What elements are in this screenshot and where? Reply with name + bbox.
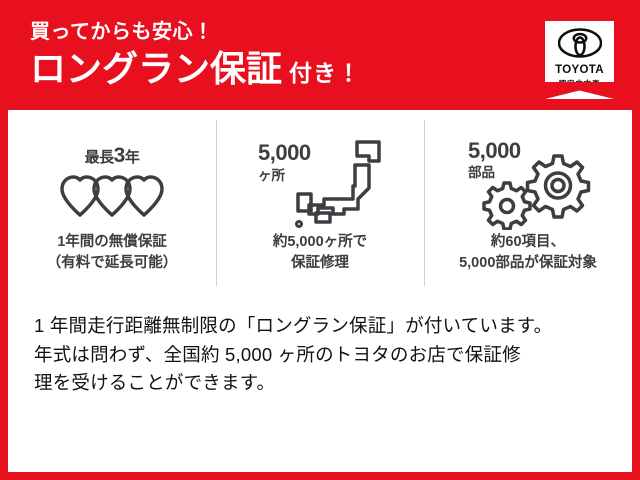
description-paragraph: 1 年間走行距離無制限の「ロングラン保証」が付いています。 年式は問わず、全国約… (8, 306, 632, 398)
caption-line-1: 約60項目、 (459, 232, 597, 253)
toyota-ellipse-logo-icon (558, 28, 602, 63)
headline-number-text: 3 (114, 144, 125, 167)
feature-warranty-term: 最長3年 (8, 136, 216, 306)
toyota-certified-badge: TOYOTA 認定中古車 (545, 21, 614, 99)
poster-body-card: 最長3年 (8, 110, 632, 472)
feature-headline-term: 最長3年 (85, 145, 140, 166)
feature-service-locations: 5,000 ヶ所 (216, 136, 424, 306)
feature-caption-service-locations: 約5,000ヶ所で 保証修理 (273, 232, 367, 273)
caption-line-2: 5,000部品が保証対象 (459, 253, 597, 274)
paragraph-line-3: 理を受けることができます。 (34, 369, 606, 398)
headline-unit-text: 年 (125, 149, 140, 166)
headline-prefix-text: 最長 (85, 149, 114, 166)
paragraph-line-1: 1 年間走行距離無制限の「ロングラン保証」が付いています。 (34, 312, 606, 341)
two-gears-icon (478, 152, 594, 235)
header-title-row: ロングラン保証付き！ (30, 51, 632, 87)
japan-map-icon (294, 138, 384, 235)
feature-graphic-gears: 5,000 部品 (424, 136, 632, 232)
header-tagline: 買ってからも安心！ (30, 22, 632, 42)
caption-line-1: 1年間の無償保証 (47, 232, 178, 253)
feature-graphic-hearts: 最長3年 (8, 136, 216, 232)
feature-caption-warranty-term: 1年間の無償保証 （有料で延長可能） (47, 232, 178, 273)
caption-line-2: 保証修理 (273, 253, 367, 274)
page-title-suffix: 付き！ (289, 60, 361, 86)
page-title: ロングラン保証 (30, 48, 282, 89)
feature-caption-covered-parts: 約60項目、 5,000部品が保証対象 (459, 232, 597, 273)
badge-chevron-shape (545, 82, 614, 99)
paragraph-line-2: 年式は問わず、全国約 5,000 ヶ所のトヨタのお店で保証修 (34, 341, 606, 370)
feature-graphic-map: 5,000 ヶ所 (216, 136, 424, 232)
caption-line-2: （有料で延長可能） (47, 253, 178, 274)
caption-line-1: 約5,000ヶ所で (273, 232, 367, 253)
badge-brand-text: TOYOTA (555, 65, 604, 77)
poster-header: 買ってからも安心！ ロングラン保証付き！ TOYOTA 認定中古車 (8, 8, 632, 110)
longrun-warranty-poster: 買ってからも安心！ ロングラン保証付き！ TOYOTA 認定中古車 (0, 0, 640, 480)
feature-covered-parts: 5,000 部品 (424, 136, 632, 306)
three-hearts-icon (59, 172, 165, 223)
feature-columns: 最長3年 (8, 110, 632, 306)
